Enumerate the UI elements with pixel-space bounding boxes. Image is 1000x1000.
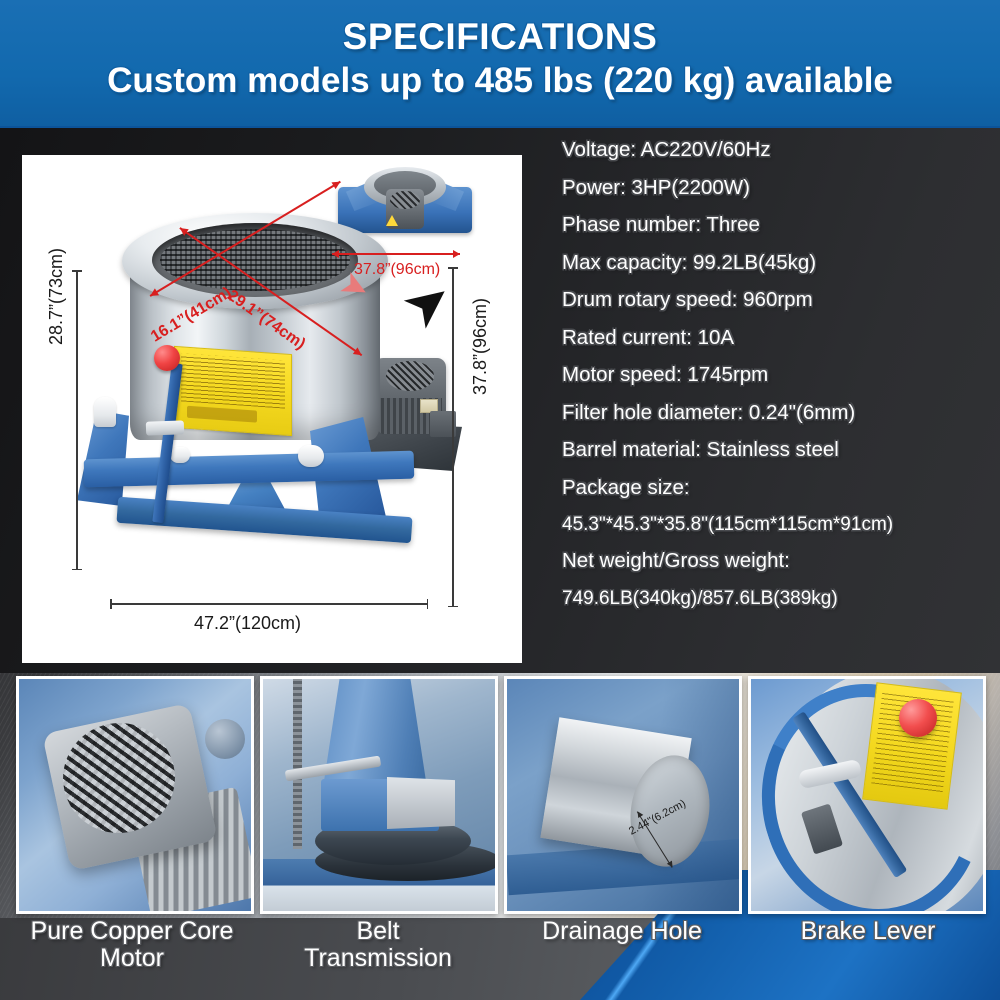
- leg-cap-1: [94, 397, 116, 427]
- spec-item-package-size-label: Package size:: [562, 478, 992, 499]
- brake-lever-knob: [154, 345, 180, 371]
- height-dimension-line: [76, 270, 78, 570]
- caption-line-1: Drainage Hole: [500, 918, 744, 945]
- specifications-list: Voltage: AC220V/60Hz Power: 3HP(2200W) P…: [562, 140, 992, 625]
- caption-belt-transmission: Belt Transmission: [256, 918, 500, 971]
- top-width-dimension-label: 37.8”(96cm): [354, 261, 440, 279]
- thumbnail-brake-lever[interactable]: [748, 676, 986, 914]
- caption-line-1: Pure Copper Core: [10, 918, 254, 945]
- width-dimension-label: 47.2”(120cm): [194, 613, 301, 634]
- spec-item-drum-rotary-speed: Drum rotary speed: 960rpm: [562, 290, 992, 311]
- caption-line-1: Belt: [256, 918, 500, 945]
- caption-line-1: Brake Lever: [746, 918, 990, 945]
- spec-item-weight-value: 749.6LB(340kg)/857.6LB(389kg): [562, 589, 992, 608]
- warning-label-yellow: [174, 346, 292, 436]
- caption-brake-lever: Brake Lever: [746, 918, 990, 945]
- thumbnail-pure-copper-core-motor[interactable]: [16, 676, 254, 914]
- centrifuge-illustration: ➤ ➤ 28.7”(73cm) 37.8”(96cm) 47.2”(120cm)…: [22, 155, 522, 663]
- spec-item-motor-speed: Motor speed: 1745rpm: [562, 365, 992, 386]
- dimension-diagram-panel: ➤ ➤ 28.7”(73cm) 37.8”(96cm) 47.2”(120cm)…: [22, 155, 522, 663]
- spec-item-voltage: Voltage: AC220V/60Hz: [562, 140, 992, 161]
- header-banner: SPECIFICATIONS Custom models up to 485 l…: [0, 0, 1000, 128]
- motor-vent-grille-icon: [386, 361, 434, 391]
- brake-clamp: [146, 420, 184, 435]
- height-dimension-label: 28.7”(73cm): [46, 248, 67, 345]
- spec-item-rated-current: Rated current: 10A: [562, 328, 992, 349]
- product-spec-infographic: SPECIFICATIONS Custom models up to 485 l…: [0, 0, 1000, 1000]
- tensioner-bracket-detail: [387, 777, 455, 829]
- spec-item-package-size-value: 45.3"*45.3"*35.8"(115cm*115cm*91cm): [562, 515, 992, 534]
- caption-pure-copper-core-motor: Pure Copper Core Motor: [10, 918, 254, 971]
- motor-bolt-detail: [205, 719, 245, 759]
- width-dimension-line: [110, 603, 428, 605]
- threaded-rod-detail: [293, 679, 302, 849]
- spec-item-barrel-material: Barrel material: Stainless steel: [562, 440, 992, 461]
- top-width-dimension-line: [332, 253, 460, 255]
- leg-cap-2: [170, 447, 190, 463]
- caption-drainage-hole: Drainage Hole: [500, 918, 744, 945]
- page-title: SPECIFICATIONS: [0, 18, 1000, 57]
- page-subtitle: Custom models up to 485 lbs (220 kg) ava…: [0, 63, 1000, 100]
- leg-cap-3: [298, 445, 324, 467]
- spec-item-power: Power: 3HP(2200W): [562, 178, 992, 199]
- spec-item-phase-number: Phase number: Three: [562, 215, 992, 236]
- thumbnail-belt-transmission[interactable]: [260, 676, 498, 914]
- brake-knob-detail: [899, 699, 937, 737]
- depth-dimension-label: 37.8”(96cm): [470, 298, 491, 395]
- spec-item-weight-label: Net weight/Gross weight:: [562, 551, 992, 572]
- thumbnail-drainage-hole[interactable]: 2.44"(6.2cm): [504, 676, 742, 914]
- feature-thumbnail-row: 2.44"(6.2cm): [0, 676, 1000, 922]
- spec-item-max-capacity: Max capacity: 99.2LB(45kg): [562, 253, 992, 274]
- caption-line-2: Transmission: [256, 945, 500, 972]
- spec-item-filter-hole-diameter: Filter hole diameter: 0.24"(6mm): [562, 403, 992, 424]
- depth-dimension-line: [452, 267, 454, 607]
- feature-caption-row: Pure Copper Core Motor Belt Transmission…: [0, 918, 1000, 1000]
- caption-line-2: Motor: [10, 945, 254, 972]
